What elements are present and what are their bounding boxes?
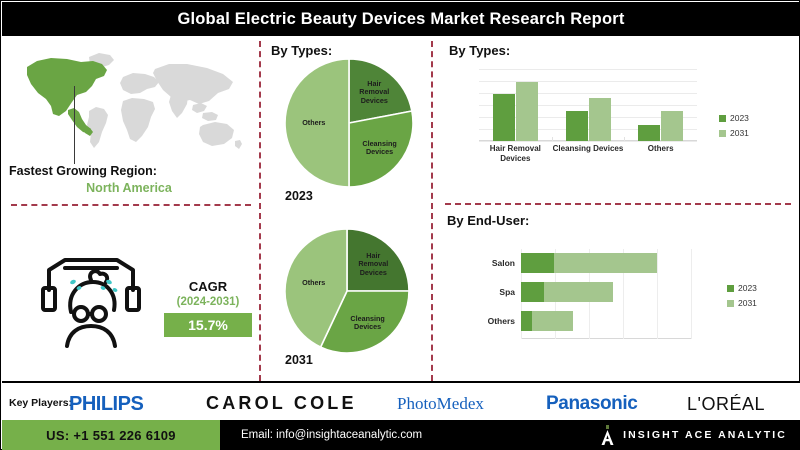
vbar-tick xyxy=(552,137,553,141)
pie-chart-2023: HairRemovalDevicesCleansingDevicesOthers xyxy=(285,59,413,187)
vbar-legend: 20232031 xyxy=(719,113,749,143)
vbar-bar xyxy=(493,94,515,141)
legend-swatch xyxy=(727,285,734,292)
vbar-bar xyxy=(566,111,588,141)
hbar-row: Salon xyxy=(521,253,657,273)
hbar-gridline xyxy=(691,249,692,339)
hbar-category-label: Salon xyxy=(492,253,515,273)
legend-swatch xyxy=(719,130,726,137)
horizontal-divider-left xyxy=(11,204,251,206)
pie-chart-2031: HairRemovalDevicesCleansingDevicesOthers xyxy=(285,229,409,353)
legend-swatch xyxy=(719,115,726,122)
legend-label: 2023 xyxy=(730,113,749,123)
cagr-value: 15.7% xyxy=(164,313,252,337)
infographic-frame: Global Electric Beauty Devices Market Re… xyxy=(0,0,800,450)
hbar-segment xyxy=(532,311,573,331)
legend-label: 2031 xyxy=(730,128,749,138)
vbar-section-label: By Types: xyxy=(449,43,510,58)
logo-loreal[interactable]: L'ORÉAL xyxy=(687,394,765,415)
hbar-gridline xyxy=(657,249,658,339)
header-bar: Global Electric Beauty Devices Market Re… xyxy=(2,2,800,36)
vbar-bar xyxy=(661,111,683,141)
footer-brand: INSIGHT ACE ANALYTIC xyxy=(601,420,787,450)
hbar-category-label: Others xyxy=(488,311,515,331)
pie-year-2023: 2023 xyxy=(285,189,313,203)
legend-label: 2031 xyxy=(738,298,757,308)
footer-phone[interactable]: US: +1 551 226 6109 xyxy=(2,420,220,450)
a-logo-icon xyxy=(601,425,614,445)
hbar-row: Spa xyxy=(521,282,613,302)
hbar-segment xyxy=(521,311,532,331)
vertical-divider-right xyxy=(431,41,433,381)
logo-carol-cole[interactable]: CAROL COLE xyxy=(206,393,357,414)
hbar-segment xyxy=(521,282,544,302)
cagr-title: CAGR xyxy=(164,279,252,295)
legend-swatch xyxy=(727,300,734,307)
pie-slice xyxy=(285,59,349,187)
footer-brand-text: INSIGHT ACE ANALYTIC xyxy=(623,429,787,441)
vbar-bar xyxy=(516,82,538,141)
hbar-axis-bottom xyxy=(521,338,691,339)
logo-photomedex[interactable]: PhotoMedex xyxy=(397,394,484,414)
fastest-region-value: North America xyxy=(9,181,249,195)
vbar-bar xyxy=(638,125,660,141)
vertical-divider-left xyxy=(259,41,261,381)
vbar-category-label: Hair RemovalDevices xyxy=(479,144,552,164)
horizontal-divider-right xyxy=(445,203,791,205)
pies-section-label: By Types: xyxy=(271,43,332,58)
vbar-gridline xyxy=(479,69,697,70)
beauty-device-woman-icon xyxy=(31,254,151,349)
logo-philips[interactable]: PHILIPS xyxy=(69,393,143,416)
hbar-category-label: Spa xyxy=(499,282,515,302)
pie-year-2031: 2031 xyxy=(285,353,313,367)
pie-slice xyxy=(347,229,409,291)
logo-panasonic[interactable]: Panasonic xyxy=(546,393,637,415)
key-players-label: Key Players: xyxy=(9,397,72,409)
end-user-bar-chart: SalonSpaOthers xyxy=(521,249,691,339)
fastest-region-label: Fastest Growing Region: xyxy=(9,164,249,178)
world-map-icon xyxy=(11,43,251,163)
vbar-tick xyxy=(624,137,625,141)
hbar-legend: 20232031 xyxy=(727,283,757,313)
cagr-block: CAGR (2024-2031) 15.7% xyxy=(164,279,252,337)
cagr-years: (2024-2031) xyxy=(164,295,252,310)
hbar-section-label: By End-User: xyxy=(447,213,529,228)
hbar-segment xyxy=(544,282,613,302)
legend-item[interactable]: 2023 xyxy=(727,283,757,293)
vbar-category-label: Cleansing Devices xyxy=(552,144,625,154)
hbar-segment xyxy=(554,253,657,273)
pie-slice xyxy=(349,111,413,187)
footer-email[interactable]: Email: info@insightaceanalytic.com xyxy=(241,420,422,450)
hbar-segment xyxy=(521,253,554,273)
vbar-gridline xyxy=(479,81,697,82)
page-title: Global Electric Beauty Devices Market Re… xyxy=(177,10,624,29)
hbar-row: Others xyxy=(521,311,573,331)
vbar-gridline xyxy=(479,141,697,142)
legend-item[interactable]: 2023 xyxy=(719,113,749,123)
vbar-bar xyxy=(589,98,611,141)
map-pointer-line xyxy=(74,86,75,164)
vbar-category-label: Others xyxy=(624,144,697,154)
types-bar-chart xyxy=(479,69,697,141)
legend-item[interactable]: 2031 xyxy=(727,298,757,308)
legend-label: 2023 xyxy=(738,283,757,293)
legend-item[interactable]: 2031 xyxy=(719,128,749,138)
